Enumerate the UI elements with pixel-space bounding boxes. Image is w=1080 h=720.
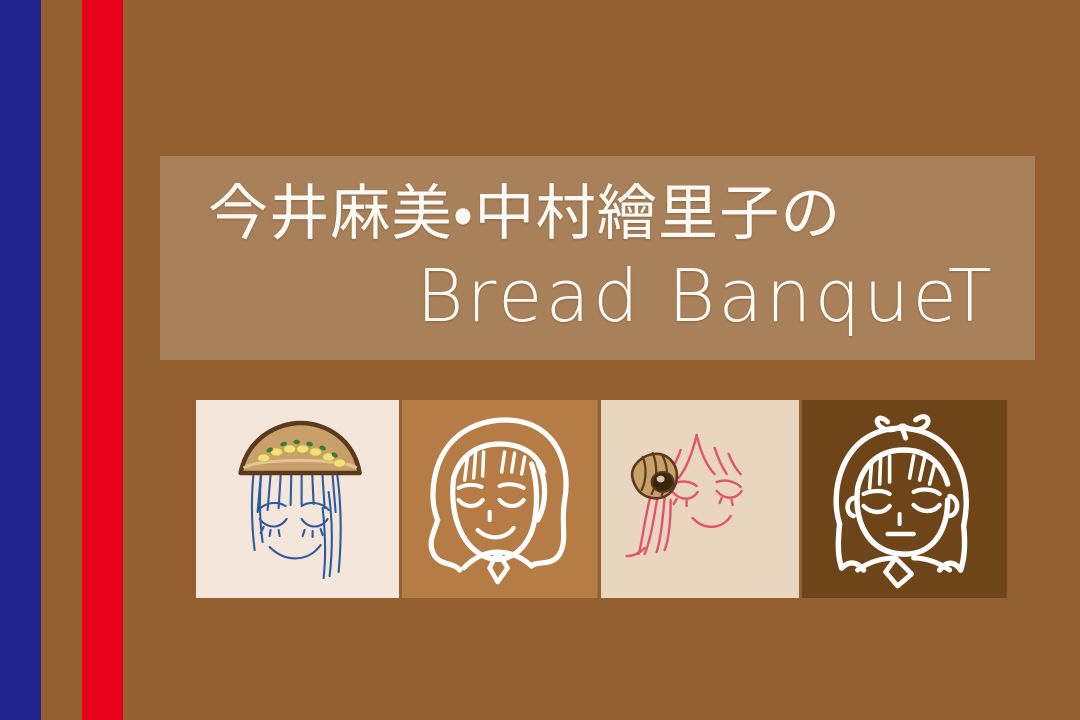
portrait-panel-4: [802, 400, 1007, 598]
portrait-panel-2: [402, 400, 597, 598]
title-japanese: 今井麻美・中村繪里子の: [194, 184, 1001, 244]
portrait-drawing-4: [802, 400, 1007, 598]
blue-stripe: [0, 0, 41, 720]
red-stripe: [82, 0, 123, 720]
poster-canvas: 今井麻美・中村繪里子の Bread BanqueT: [0, 0, 1080, 720]
portrait-panel-3: [601, 400, 799, 598]
chocolate-cornet-icon: [632, 453, 677, 498]
portrait-panel-1: [196, 400, 399, 598]
portrait-drawing-1: [196, 400, 399, 598]
title-english: Bread BanqueT: [194, 260, 1001, 332]
portrait-drawing-2: [402, 400, 597, 598]
title-banner: 今井麻美・中村繪里子の Bread BanqueT: [160, 156, 1035, 360]
portrait-drawing-3: [601, 400, 799, 598]
portrait-strip: [196, 400, 1007, 598]
